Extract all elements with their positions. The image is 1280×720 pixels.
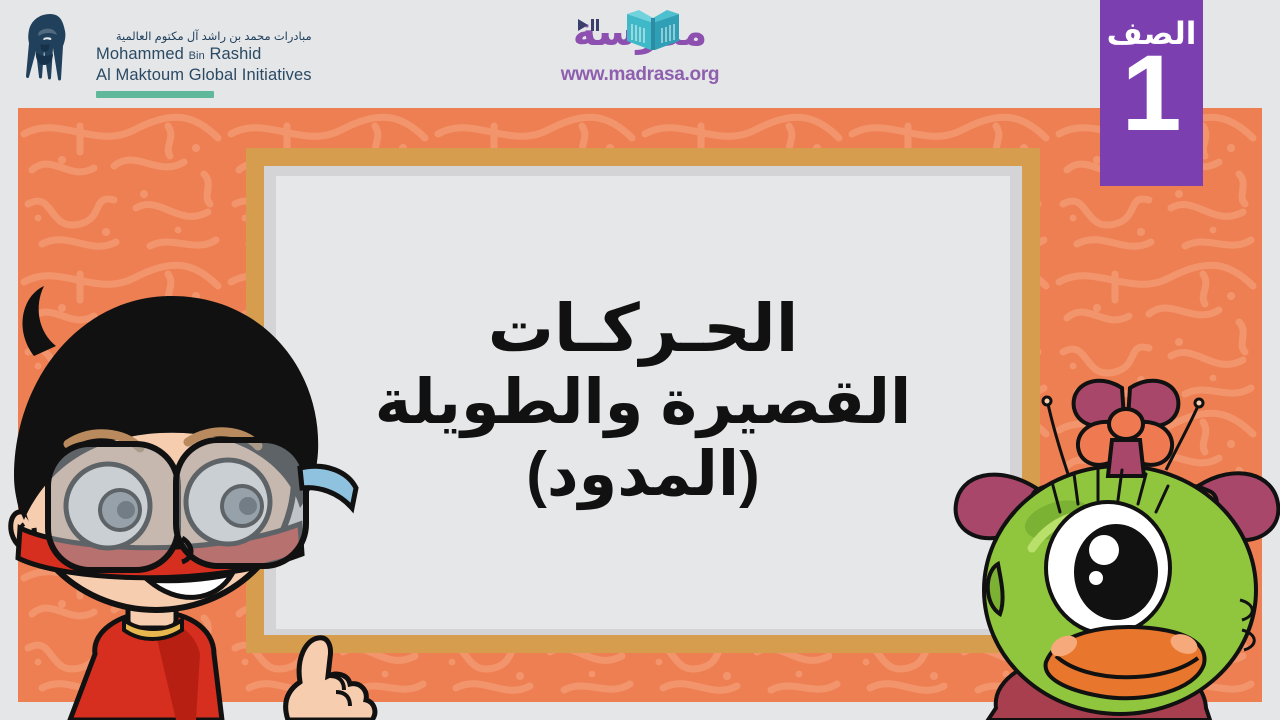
lesson-title-line-1: الحـركـات xyxy=(488,290,799,367)
sheikh-portrait-emblem-icon xyxy=(14,8,86,90)
mbr-english-name-line1: Mohammed Bin Rashid xyxy=(96,44,312,64)
madrasa-url-text[interactable]: www.madrasa.org xyxy=(525,64,755,86)
lesson-board: الحـركـات القصيرة والطويلة (المدود) xyxy=(276,176,1010,629)
mbr-name-mohammed: Mohammed xyxy=(96,45,184,63)
lesson-title-line-2: القصيرة والطويلة xyxy=(375,367,911,439)
lesson-board-frame: الحـركـات القصيرة والطويلة (المدود) xyxy=(246,148,1040,653)
lesson-board-mat: الحـركـات القصيرة والطويلة (المدود) xyxy=(264,166,1022,635)
mbr-logo-underline xyxy=(96,91,214,98)
mbr-global-initiatives-logo: مبادرات محمد بن راشد آل مكتوم العالمية M… xyxy=(14,8,312,98)
lesson-title: الحـركـات القصيرة والطويلة (المدود) xyxy=(276,176,1010,629)
slide-stage: مبادرات محمد بن راشد آل مكتوم العالمية M… xyxy=(0,0,1280,720)
mbr-english-name-line2: Al Maktoum Global Initiatives xyxy=(96,65,312,85)
lesson-title-line-3: (المدود) xyxy=(526,439,760,511)
madrasa-wordmark: مدرسة xyxy=(525,14,755,62)
grade-badge: الصف 1 xyxy=(1100,0,1203,186)
open-book-icon xyxy=(625,10,681,52)
grade-number: 1 xyxy=(1121,47,1181,140)
mbr-logo-text: مبادرات محمد بن راشد آل مكتوم العالمية M… xyxy=(96,8,312,98)
mbr-arabic-name: مبادرات محمد بن راشد آل مكتوم العالمية xyxy=(96,30,312,44)
mbr-name-bin: Bin xyxy=(189,50,205,62)
header-bar: مبادرات محمد بن راشد آل مكتوم العالمية M… xyxy=(0,0,1280,108)
madrasa-logo[interactable]: مدرسة xyxy=(525,14,755,86)
lesson-panel: الحـركـات القصيرة والطويلة (المدود) xyxy=(18,108,1262,702)
play-pause-icon xyxy=(578,18,602,32)
mbr-name-rashid: Rashid xyxy=(210,45,262,63)
